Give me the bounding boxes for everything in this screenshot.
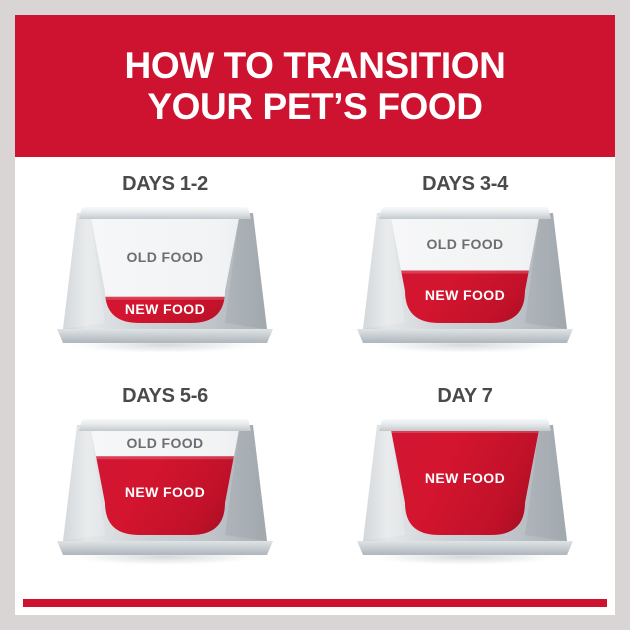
header-title-line-2: YOUR PET’S FOOD bbox=[147, 86, 482, 127]
panel-days-5-6: DAYS 5-6 OLD FOODNEW FOOD bbox=[15, 379, 315, 601]
footer-accent-strip bbox=[23, 599, 607, 607]
panel-title: DAY 7 bbox=[315, 385, 615, 408]
bowl-rim bbox=[379, 419, 551, 431]
bowl-illustration bbox=[55, 205, 275, 355]
panel-title: DAYS 3-4 bbox=[315, 173, 615, 196]
bowl-base bbox=[357, 329, 573, 343]
panel-title: DAYS 5-6 bbox=[15, 385, 315, 408]
bowl-base bbox=[57, 329, 273, 343]
header-title-line-1: HOW TO TRANSITION bbox=[125, 45, 506, 86]
panel-title: DAYS 1-2 bbox=[15, 173, 315, 196]
bowl-grid: DAYS 1-2 OLD FOODNEW FOOD DAYS 3-4 OLD F… bbox=[15, 157, 615, 608]
bowl-illustration bbox=[355, 205, 575, 355]
bowl-days-3-4: OLD FOODNEW FOOD bbox=[355, 205, 575, 355]
panel-day-7: DAY 7 NEW FOOD bbox=[315, 379, 615, 601]
panel-days-1-2: DAYS 1-2 OLD FOODNEW FOOD bbox=[15, 167, 315, 389]
bowl-base bbox=[57, 541, 273, 555]
bowl-days-5-6: OLD FOODNEW FOOD bbox=[55, 417, 275, 567]
bowl-rim bbox=[379, 207, 551, 219]
bowl-illustration bbox=[355, 417, 575, 567]
bowl-day-7: NEW FOOD bbox=[355, 417, 575, 567]
panel-days-3-4: DAYS 3-4 OLD FOODNEW FOOD bbox=[315, 167, 615, 389]
infographic-card: HOW TO TRANSITION YOUR PET’S FOOD DAYS 1… bbox=[15, 15, 615, 615]
bowl-rim bbox=[79, 419, 251, 431]
bowl-base bbox=[357, 541, 573, 555]
bowl-illustration bbox=[55, 417, 275, 567]
bowl-rim bbox=[79, 207, 251, 219]
bowl-days-1-2: OLD FOODNEW FOOD bbox=[55, 205, 275, 355]
header-banner: HOW TO TRANSITION YOUR PET’S FOOD bbox=[15, 15, 615, 157]
